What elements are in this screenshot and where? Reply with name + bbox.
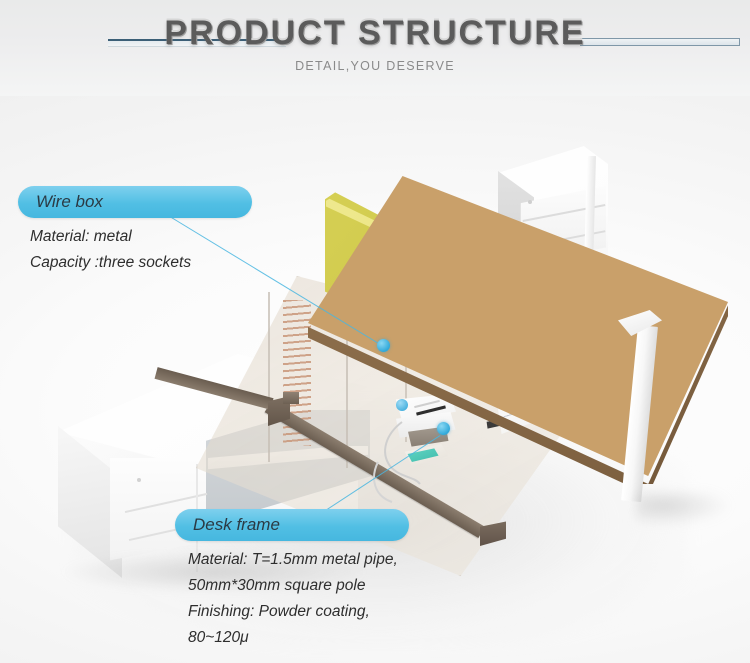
- page-title: PRODUCT STRUCTURE: [0, 14, 750, 53]
- callout-label-wire-box: Wire box: [36, 192, 103, 212]
- callout-line: Capacity :three sockets: [30, 250, 191, 276]
- product-illustration: Wire box Material: metal Capacity :three…: [0, 96, 750, 663]
- callout-line: Material: metal: [30, 224, 191, 250]
- callout-text-wire-box: Material: metal Capacity :three sockets: [30, 224, 191, 276]
- leader-dot-desk-frame: [437, 422, 450, 435]
- smartphone: [400, 444, 448, 478]
- leader-dot-wire-box: [377, 339, 390, 352]
- callout-pill-wire-box[interactable]: Wire box: [18, 186, 252, 218]
- desk-modesty-ghost: [268, 292, 270, 462]
- product-structure-infographic: PRODUCT STRUCTURE DETAIL,YOU DESERVE: [0, 0, 750, 663]
- callout-label-desk-frame: Desk frame: [193, 515, 280, 535]
- callout-text-desk-frame: Material: T=1.5mm metal pipe, 50mm*30mm …: [188, 547, 398, 651]
- page-subtitle: DETAIL,YOU DESERVE: [0, 59, 750, 73]
- callout-line: Finishing: Powder coating,: [188, 599, 398, 625]
- callout-line: Material: T=1.5mm metal pipe,: [188, 547, 398, 573]
- callout-line: 50mm*30mm square pole: [188, 573, 398, 599]
- callout-pill-desk-frame[interactable]: Desk frame: [175, 509, 409, 541]
- desk-leg-shadow: [636, 492, 732, 526]
- header-band: PRODUCT STRUCTURE DETAIL,YOU DESERVE: [0, 0, 750, 96]
- desk-frame-bracket: [283, 392, 299, 404]
- callout-line: 80~120μ: [188, 625, 398, 651]
